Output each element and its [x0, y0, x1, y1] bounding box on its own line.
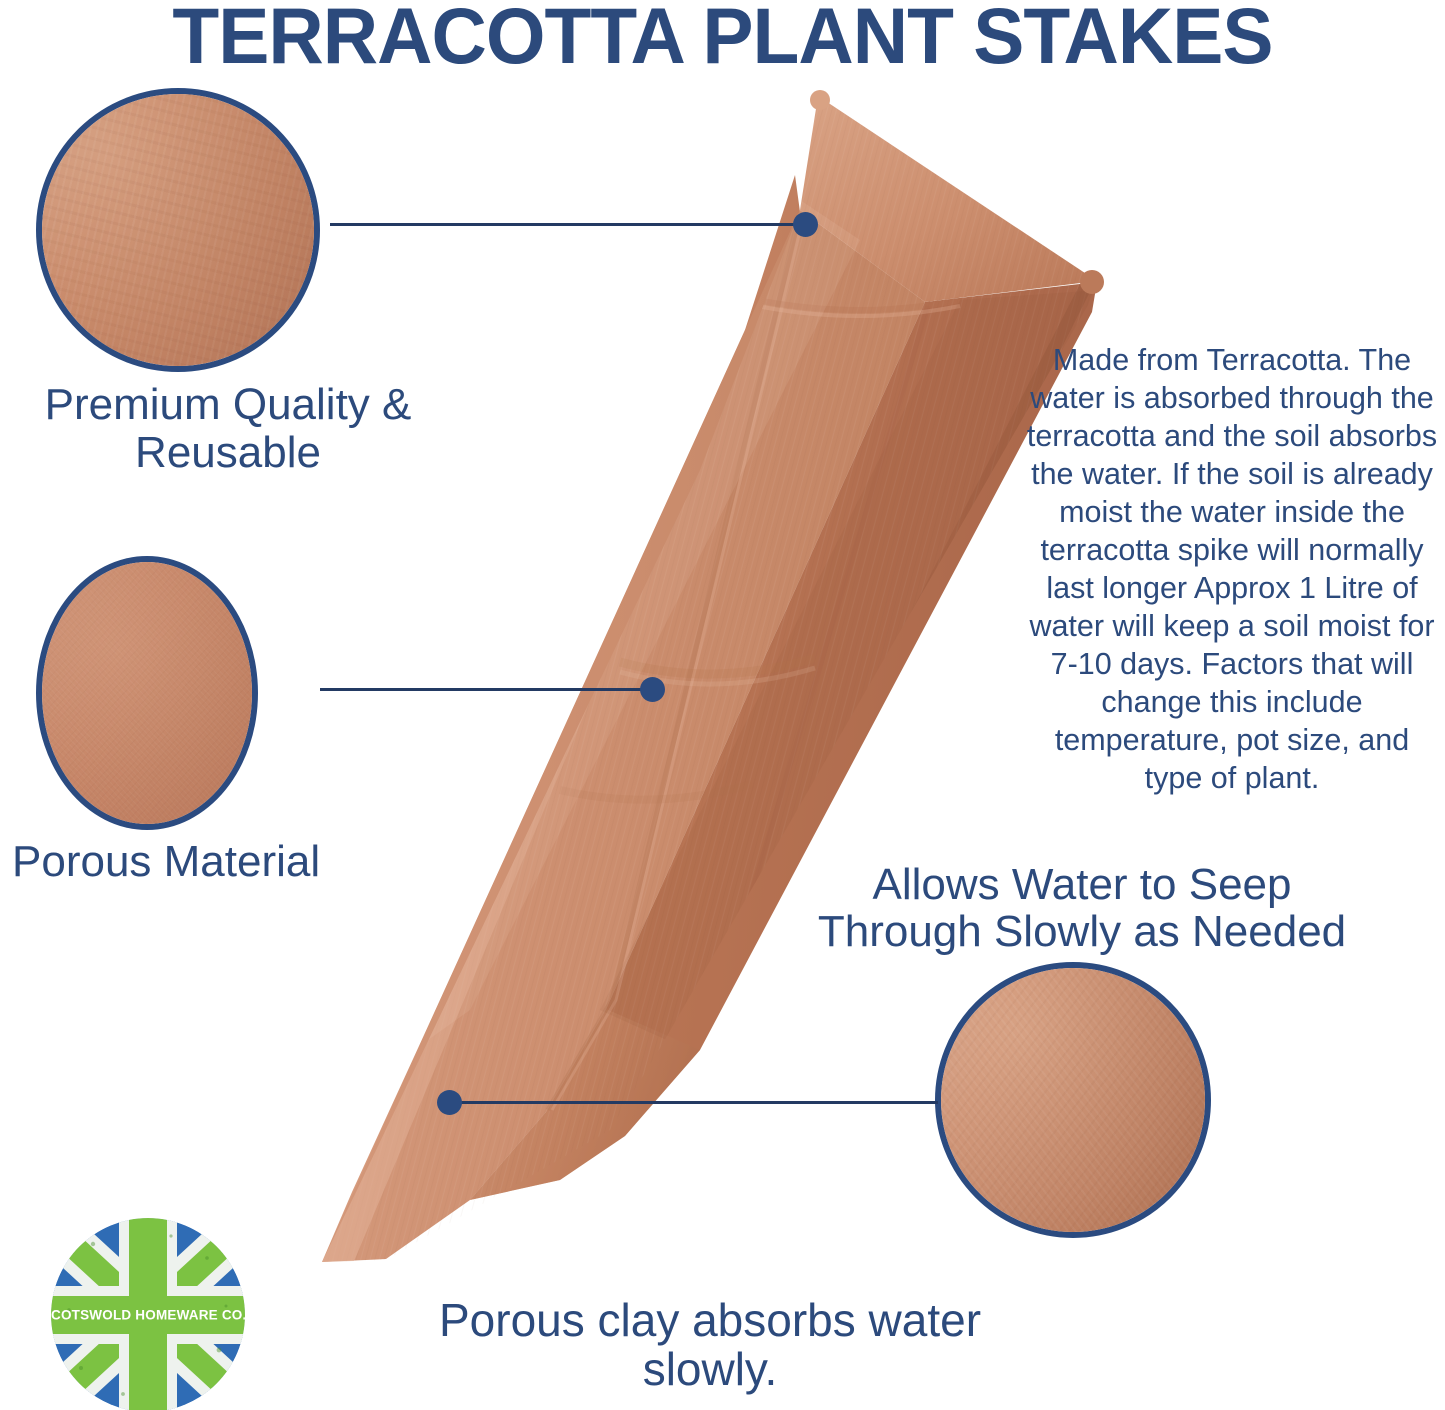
connector-line-porous-material [320, 688, 650, 691]
callout-label-line-2: Reusable [135, 428, 321, 477]
infographic-canvas: TERRACOTTA PLANT STAKES [0, 0, 1445, 1410]
clay-swatch-icon [935, 962, 1211, 1238]
callout-label-line-2: Through Slowly as Needed [818, 907, 1346, 956]
product-description: Made from Terracotta. The water is absor… [1022, 342, 1442, 798]
callout-label-line-1: Allows Water to Seep [873, 860, 1292, 909]
clay-swatch-icon [36, 556, 258, 830]
connector-dot-premium-quality [793, 212, 818, 237]
brand-logo: COTSWOLD HOMEWARE CO. [51, 1218, 245, 1410]
callout-label-line-1: Premium Quality & [45, 380, 412, 429]
connector-line-premium-quality [330, 223, 800, 226]
callout-label-premium-quality: Premium Quality & Reusable [0, 381, 456, 476]
union-jack-icon [51, 1218, 245, 1410]
callout-circle-water-seep [935, 962, 1211, 1238]
clay-swatch-icon [36, 88, 320, 372]
callout-label-water-seep: Allows Water to Seep Through Slowly as N… [742, 861, 1422, 955]
connector-line-water-seep [458, 1101, 938, 1104]
connector-dot-water-seep [437, 1090, 462, 1115]
callout-label-porous-material: Porous Material [0, 838, 400, 886]
callout-label-line-1: Porous Material [12, 837, 320, 886]
callout-circle-premium-quality [36, 88, 320, 372]
caption-porous-clay: Porous clay absorbs water slowly. [352, 1296, 1068, 1394]
caption-line-2: slowly. [643, 1343, 778, 1395]
connector-dot-porous-material [640, 677, 665, 702]
callout-circle-porous-material [36, 556, 258, 830]
caption-line-1: Porous clay absorbs water [439, 1294, 981, 1346]
